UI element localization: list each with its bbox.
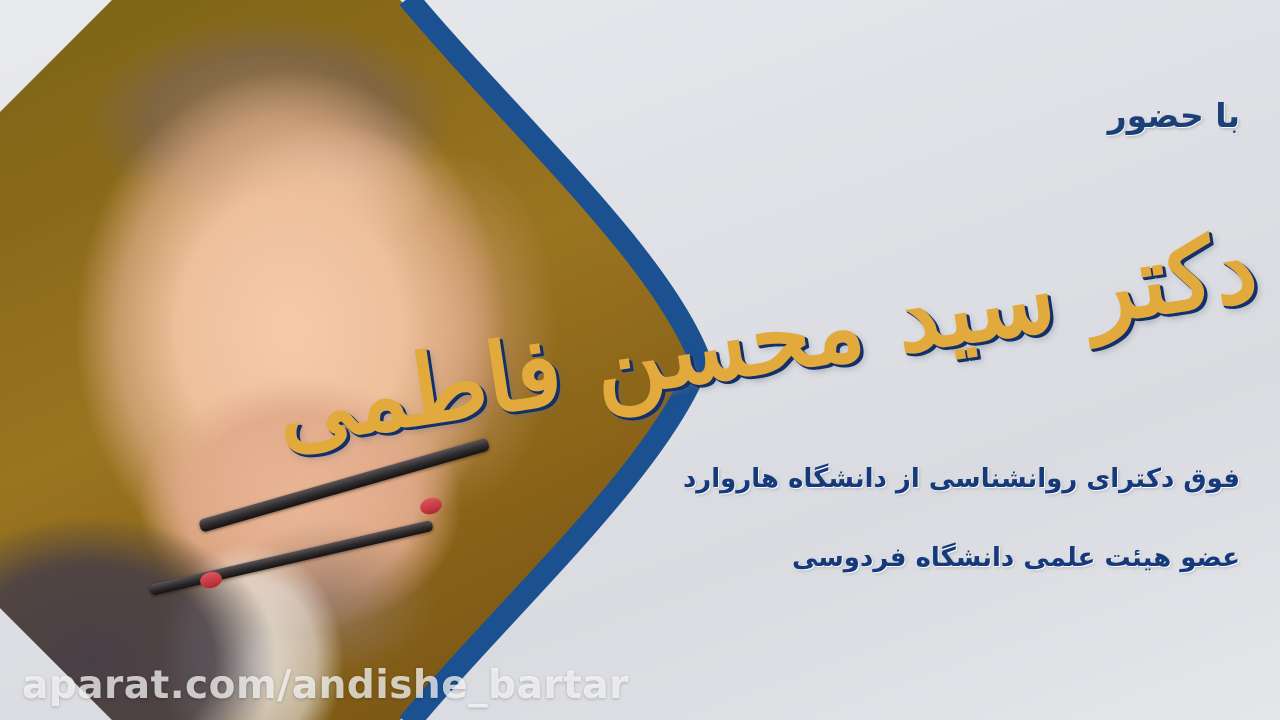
- speaker-name-block: دکتر سید محسن فاطمی: [742, 160, 1262, 440]
- credential-line-2: عضو هیئت علمی دانشگاه فردوسی: [792, 543, 1240, 573]
- credential-line-1: فوق دکترای روانشناسی از دانشگاه هاروارد: [683, 464, 1240, 494]
- poster-canvas: با حضور دکتر سید محسن فاطمی فوق دکترای ر…: [0, 0, 1280, 720]
- kicker-label: با حضور: [1108, 96, 1240, 135]
- aparat-watermark: aparat.com/andishe_bartar: [22, 663, 629, 708]
- text-column: با حضور دکتر سید محسن فاطمی فوق دکترای ر…: [660, 0, 1280, 720]
